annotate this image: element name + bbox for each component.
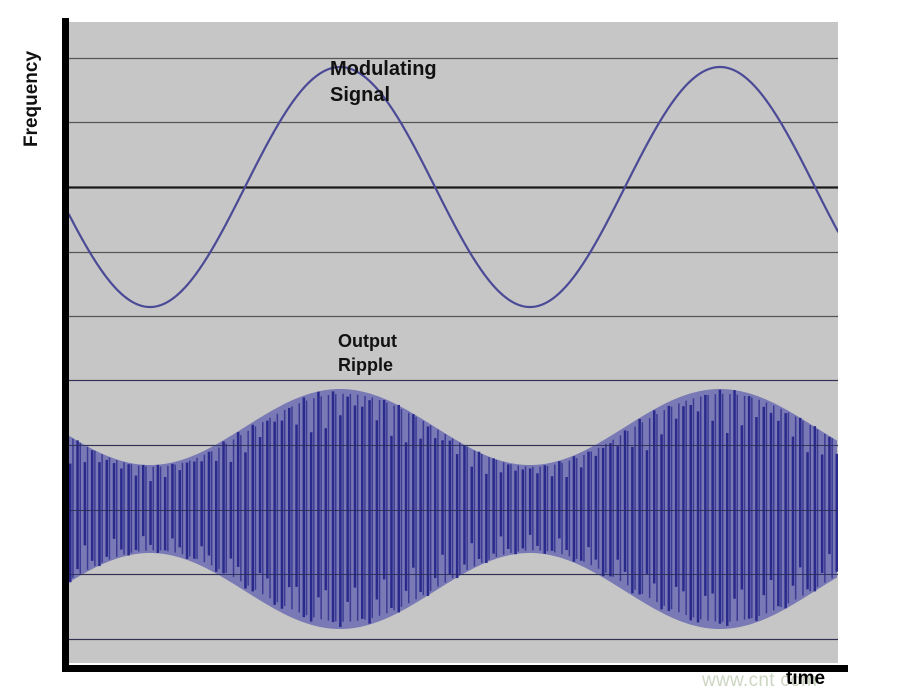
ripple-sample — [685, 401, 687, 615]
ripple-sample — [393, 406, 395, 611]
ripple-sample — [430, 425, 432, 591]
ripple-sample — [398, 405, 401, 613]
ripple-sample — [569, 461, 571, 557]
ripple-sample — [291, 406, 293, 609]
ripple-sample — [744, 396, 746, 620]
ripple-sample — [485, 474, 488, 563]
ripple-sample — [368, 400, 371, 623]
ripple-sample — [551, 476, 554, 551]
ripple-sample — [204, 455, 206, 562]
ripple-sample — [620, 435, 622, 581]
ripple-sample — [664, 410, 666, 606]
ripple-sample — [116, 460, 118, 557]
ripple-sample — [87, 447, 89, 570]
ripple-sample — [401, 409, 403, 607]
ripple-sample — [831, 438, 833, 578]
ripple-sample — [773, 405, 775, 610]
ripple-sample — [697, 411, 700, 622]
ripple-sample — [423, 421, 425, 595]
ripple-sample — [138, 466, 140, 552]
ripple-sample — [269, 418, 271, 598]
ripple-sample — [459, 443, 461, 574]
ripple-sample — [806, 452, 809, 589]
ripple-sample — [828, 437, 831, 554]
ripple-sample — [252, 425, 255, 592]
annotation-modulating-line1: Modulating — [330, 56, 437, 82]
ripple-sample — [660, 434, 663, 609]
ripple-sample — [379, 400, 381, 616]
ripple-sample — [415, 417, 417, 599]
ripple-sample — [320, 396, 322, 619]
ripple-sample — [273, 422, 276, 605]
ripple-sample — [452, 438, 454, 578]
ripple-sample — [449, 441, 452, 575]
ripple-sample — [233, 439, 235, 577]
ripple-sample — [200, 461, 203, 546]
ripple-sample — [510, 464, 512, 553]
ripple-sample — [492, 458, 495, 553]
annotation-ripple-line2: Ripple — [338, 354, 397, 378]
ripple-sample — [174, 465, 176, 553]
ripple-sample — [766, 402, 768, 613]
ripple-sample — [153, 467, 155, 551]
ripple-sample — [656, 414, 658, 602]
ripple-sample — [617, 446, 620, 560]
ripple-sample — [704, 395, 707, 596]
plot-area — [69, 22, 838, 663]
ripple-sample — [675, 419, 678, 587]
ripple-sample — [573, 456, 576, 562]
ripple-sample — [288, 408, 291, 587]
ripple-sample — [80, 443, 82, 574]
ripple-sample — [255, 426, 257, 590]
ripple-sample — [69, 464, 72, 583]
ripple-sample — [722, 394, 724, 622]
ripple-sample — [507, 464, 510, 548]
ripple-sample — [532, 467, 534, 551]
annotation-output-ripple: Output Ripple — [338, 330, 397, 378]
ripple-sample — [481, 454, 483, 563]
ripple-sample — [179, 470, 182, 547]
ripple-sample — [247, 431, 249, 586]
ripple-sample — [354, 405, 357, 587]
ripple-sample — [711, 421, 714, 594]
ripple-sample — [719, 390, 722, 624]
ripple-sample — [109, 457, 111, 559]
ripple-sample — [72, 439, 74, 578]
ripple-sample — [580, 467, 583, 560]
ripple-sample — [802, 421, 804, 596]
ripple-sample — [361, 407, 364, 619]
annotation-ripple-line1: Output — [338, 330, 397, 354]
ripple-sample — [262, 422, 264, 594]
ripple-sample — [463, 445, 466, 564]
ripple-sample — [277, 414, 279, 602]
ripple-sample — [364, 396, 366, 620]
ripple-sample — [101, 454, 103, 563]
ripple-sample — [149, 481, 152, 545]
ripple-sample — [189, 461, 191, 557]
ripple-sample — [91, 450, 94, 561]
ripple-sample — [547, 466, 549, 551]
ripple-sample — [631, 447, 634, 593]
ripple-sample — [299, 403, 301, 612]
ripple-sample — [98, 462, 101, 566]
ripple-sample — [591, 452, 593, 566]
ripple-sample — [539, 467, 541, 551]
ripple-sample — [598, 448, 600, 569]
ripple-sample — [332, 391, 335, 622]
ripple-sample — [266, 421, 269, 579]
ripple-sample — [518, 466, 520, 552]
ripple-sample — [372, 398, 374, 618]
ripple-sample — [624, 430, 627, 572]
ripple-sample — [295, 425, 298, 587]
ripple-sample — [792, 437, 795, 586]
ripple-sample — [605, 444, 607, 573]
ripple-sample — [646, 450, 649, 574]
ripple-sample — [554, 465, 556, 553]
ripple-sample — [587, 452, 590, 548]
ripple-sample — [478, 452, 481, 559]
ripple-sample — [737, 395, 739, 621]
ripple-sample — [94, 451, 96, 566]
ripple-sample — [127, 464, 129, 555]
ripple-sample — [700, 396, 702, 619]
ripple-sample — [335, 394, 337, 621]
ripple-sample — [471, 467, 474, 544]
ripple-sample — [437, 430, 439, 587]
ripple-sample — [634, 427, 636, 590]
ripple-sample — [733, 390, 736, 599]
ripple-sample — [157, 465, 160, 553]
ripple-sample — [419, 439, 422, 592]
ripple-sample — [503, 462, 505, 554]
ripple-sample — [244, 452, 247, 588]
ripple-sample — [561, 463, 563, 554]
ripple-sample — [237, 432, 240, 567]
ripple-sample — [310, 432, 313, 621]
ripple-sample — [106, 460, 109, 557]
ripple-sample — [770, 413, 773, 580]
ripple-sample — [306, 401, 308, 616]
ripple-sample — [357, 395, 359, 621]
ripple-sample — [763, 407, 766, 595]
ripple-sample — [383, 400, 386, 579]
ripple-sample — [350, 394, 352, 622]
ripple-sample — [317, 392, 320, 598]
ripple-sample — [303, 397, 306, 617]
annotation-modulating-signal: Modulating Signal — [330, 56, 437, 109]
ripple-sample — [496, 460, 498, 557]
ripple-sample — [76, 440, 79, 569]
ripple-sample — [678, 403, 680, 612]
ripple-sample — [474, 450, 476, 566]
ripple-sample — [215, 461, 218, 572]
ripple-sample — [445, 434, 447, 582]
ripple-sample — [113, 463, 116, 539]
chart-figure: Frequency Modulating Signal Output Rippl… — [0, 0, 900, 700]
ripple-sample — [240, 435, 242, 581]
ripple-sample — [208, 452, 211, 556]
y-axis-line — [62, 18, 69, 672]
ripple-sample — [346, 397, 349, 602]
ripple-sample — [558, 461, 561, 538]
ripple-sample — [612, 440, 614, 577]
ripple-sample — [668, 406, 671, 611]
ripple-sample — [595, 456, 598, 560]
ripple-sample — [609, 443, 612, 576]
ripple-sample — [751, 398, 753, 618]
ripple-sample — [412, 414, 415, 568]
ripple-sample — [726, 433, 729, 626]
ripple-sample — [226, 444, 228, 573]
ripple-sample — [218, 448, 220, 569]
ripple-sample — [565, 477, 568, 550]
ripple-sample — [682, 406, 685, 591]
ripple-sample — [824, 434, 826, 583]
ripple-sample — [576, 458, 578, 559]
ripple-sample — [211, 451, 213, 565]
ripple-sample — [777, 421, 780, 606]
ripple-sample — [259, 437, 262, 573]
ripple-sample — [405, 442, 408, 591]
ripple-sample — [627, 431, 629, 585]
ripple-sample — [602, 448, 605, 576]
y-axis-label: Frequency — [21, 19, 43, 179]
ripple-sample — [142, 465, 145, 536]
ripple-sample — [755, 417, 758, 621]
ripple-sample — [339, 415, 342, 627]
ripple-sample — [780, 409, 782, 607]
ripple-sample — [642, 422, 644, 594]
ripple-sample — [145, 466, 147, 550]
ripple-sample — [758, 400, 760, 616]
ripple-sample — [466, 447, 468, 570]
ripple-sample — [123, 462, 125, 554]
ripple-sample — [434, 438, 437, 578]
ripple-sample — [131, 464, 133, 553]
ripple-sample — [799, 418, 802, 568]
ripple-sample — [171, 464, 174, 539]
ripple-sample — [715, 394, 717, 621]
plot-svg — [69, 22, 838, 663]
ripple-sample — [167, 466, 169, 551]
ripple-sample — [328, 395, 330, 621]
ripple-sample — [795, 417, 797, 600]
ripple-sample — [281, 421, 284, 609]
ripple-sample — [544, 465, 547, 554]
annotation-modulating-line2: Signal — [330, 82, 437, 108]
output-ripple-series — [69, 389, 838, 629]
ripple-sample — [817, 429, 819, 586]
ripple-sample — [313, 398, 315, 617]
ripple-sample — [529, 468, 532, 534]
ripple-sample — [196, 458, 198, 559]
ripple-sample — [120, 469, 123, 550]
ripple-sample — [748, 396, 751, 619]
ripple-sample — [135, 476, 138, 550]
ripple-sample — [814, 426, 817, 591]
ripple-sample — [836, 454, 839, 572]
ripple-sample — [284, 410, 286, 606]
ripple-sample — [160, 467, 162, 551]
ripple-sample — [182, 463, 184, 554]
ripple-sample — [84, 462, 87, 545]
ripple-sample — [500, 472, 503, 536]
ripple-sample — [488, 457, 490, 560]
ripple-sample — [390, 436, 393, 608]
ripple-sample — [690, 405, 693, 620]
ripple-sample — [525, 466, 527, 550]
ripple-sample — [693, 398, 695, 617]
ripple-sample — [707, 395, 709, 621]
ripple-sample — [810, 425, 812, 591]
ripple-sample — [583, 455, 585, 562]
ripple-sample — [536, 473, 539, 546]
ripple-sample — [427, 426, 430, 595]
ripple-sample — [514, 471, 517, 555]
ripple-sample — [222, 442, 225, 574]
ripple-sample — [376, 420, 379, 599]
ripple-sample — [164, 477, 167, 550]
ripple-sample — [821, 455, 824, 573]
ripple-sample — [653, 410, 656, 583]
ripple-sample — [741, 425, 744, 589]
ripple-sample — [441, 440, 444, 554]
ripple-sample — [729, 394, 731, 622]
ripple-sample — [522, 469, 525, 548]
ripple-sample — [671, 407, 673, 610]
x-axis-label: time — [786, 668, 825, 690]
ripple-sample — [386, 403, 388, 614]
ripple-sample — [456, 454, 459, 578]
ripple-sample — [325, 428, 328, 590]
ripple-sample — [342, 394, 344, 622]
